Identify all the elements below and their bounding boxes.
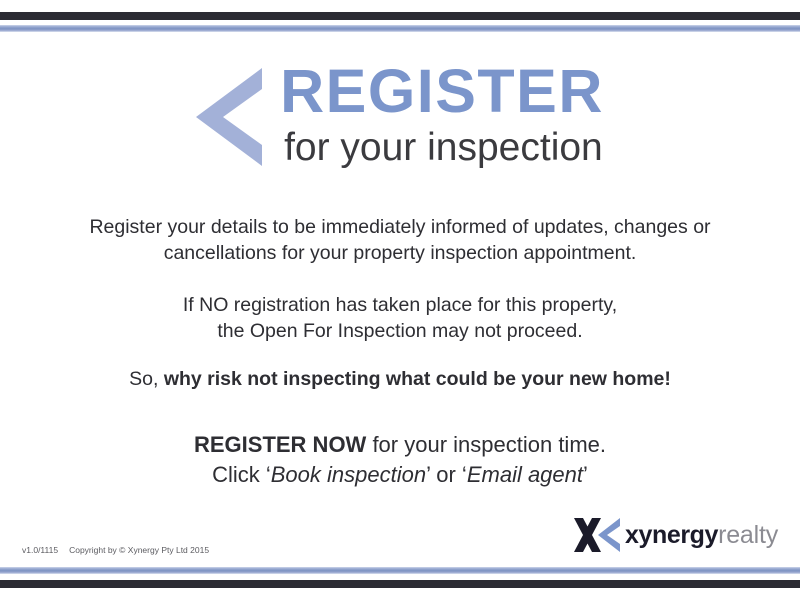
header-inner: REGISTER for your inspection <box>196 62 604 167</box>
top-rule-blue <box>0 25 800 32</box>
paragraph-prompt-emphasis: why risk not inspecting what could be yo… <box>164 368 671 390</box>
cta-line-2-post: ’ <box>583 462 588 487</box>
brand-primary-label: xynergy <box>625 521 718 549</box>
paragraph-warning-line-1: If NO registration has taken place for t… <box>0 293 800 319</box>
paragraph-details-line-1: Register your details to be immediately … <box>0 215 800 241</box>
paragraph-warning: If NO registration has taken place for t… <box>0 293 800 344</box>
page-subtitle: for your inspection <box>284 128 603 167</box>
page-header: REGISTER for your inspection <box>0 62 800 167</box>
brand-logo: xynergyrealty <box>574 518 778 552</box>
cta-email-agent-label: Email agent <box>467 462 583 487</box>
cta-register-now-label: REGISTER NOW <box>194 432 366 457</box>
cta-or-label: ’ or ‘ <box>426 462 467 487</box>
body-copy: Register your details to be immediately … <box>0 215 800 393</box>
xynergy-x-chevron-logo-icon <box>574 518 620 552</box>
brand-wordmark: xynergyrealty <box>625 523 778 548</box>
call-to-action: REGISTER NOW for your inspection time. C… <box>0 430 800 491</box>
cta-click-label: Click ‘ <box>212 462 271 487</box>
bottom-rule-blue <box>0 567 800 574</box>
cta-line-1-rest: for your inspection time. <box>366 432 606 457</box>
top-rule-dark <box>0 12 800 20</box>
page-title: REGISTER <box>280 62 604 122</box>
paragraph-prompt-lead: So, <box>129 368 164 390</box>
paragraph-spacer-1 <box>0 266 800 293</box>
cta-book-inspection-label: Book inspection <box>271 462 426 487</box>
paragraph-details-line-2: cancellations for your property inspecti… <box>0 241 800 267</box>
paragraph-spacer-2 <box>0 345 800 367</box>
version-label: v1.0/1115 <box>22 545 58 555</box>
bottom-rule-dark <box>0 580 800 588</box>
paragraph-prompt: So, why risk not inspecting what could b… <box>0 367 800 393</box>
header-text: REGISTER for your inspection <box>280 62 604 167</box>
cta-line-1: REGISTER NOW for your inspection time. <box>0 430 800 460</box>
legal-line: v1.0/1115Copyright by © Xynergy Pty Ltd … <box>22 545 209 555</box>
copyright-label: Copyright by © Xynergy Pty Ltd 2015 <box>69 545 209 555</box>
paragraph-warning-line-2: the Open For Inspection may not proceed. <box>0 319 800 345</box>
brand-secondary-label: realty <box>718 521 778 549</box>
paragraph-details: Register your details to be immediately … <box>0 215 800 266</box>
chevron-left-icon <box>196 68 262 166</box>
cta-line-2: Click ‘Book inspection’ or ‘Email agent’ <box>0 460 800 490</box>
